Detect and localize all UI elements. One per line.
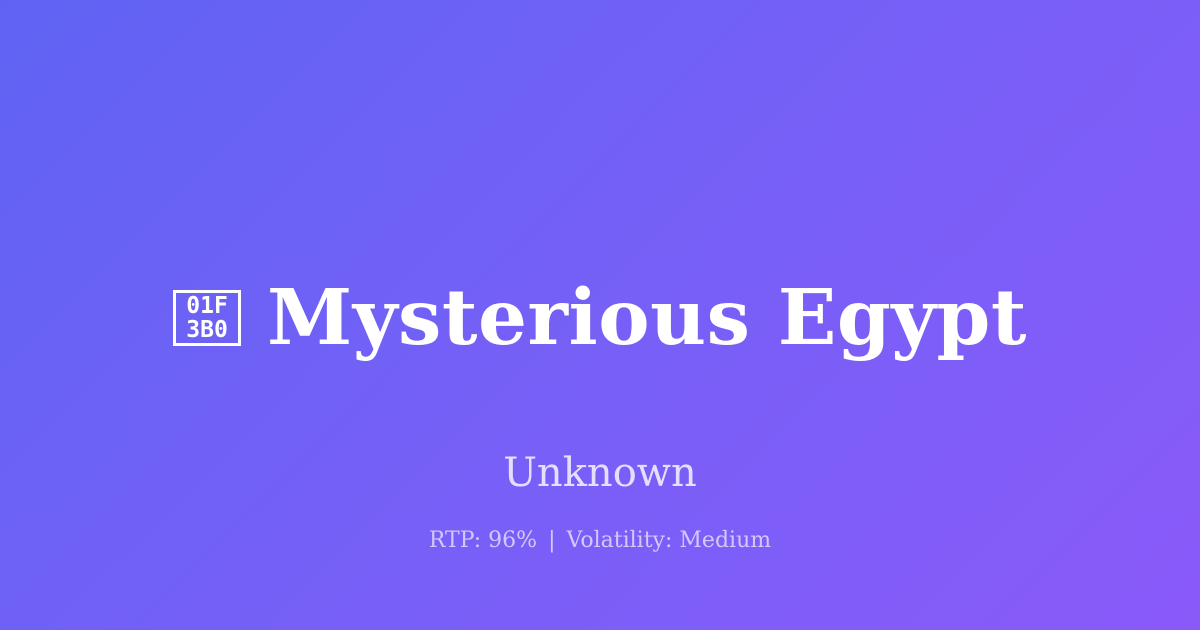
rtp-value: 96% (488, 528, 537, 553)
stats-separator: | (544, 528, 559, 553)
provider-subtitle: Unknown (503, 450, 697, 496)
volatility-value: Medium (679, 528, 771, 553)
slot-machine-icon: 01F 3B0 (173, 290, 241, 346)
hero-block: 01F 3B0 Mysterious Egypt Unknown (0, 228, 1200, 496)
page-title: Mysterious Egypt (267, 280, 1027, 357)
title-row: 01F 3B0 Mysterious Egypt (173, 228, 1027, 408)
game-preview-card: 01F 3B0 Mysterious Egypt Unknown RTP: 96… (0, 0, 1200, 630)
volatility-label: Volatility: (567, 528, 673, 553)
rtp-label: RTP: (429, 528, 481, 553)
slot-machine-icon-codepoint-row1: 01F (186, 294, 228, 318)
game-stats-line: RTP: 96% | Volatility: Medium (0, 528, 1200, 553)
slot-machine-icon-codepoint-row2: 3B0 (186, 318, 228, 342)
